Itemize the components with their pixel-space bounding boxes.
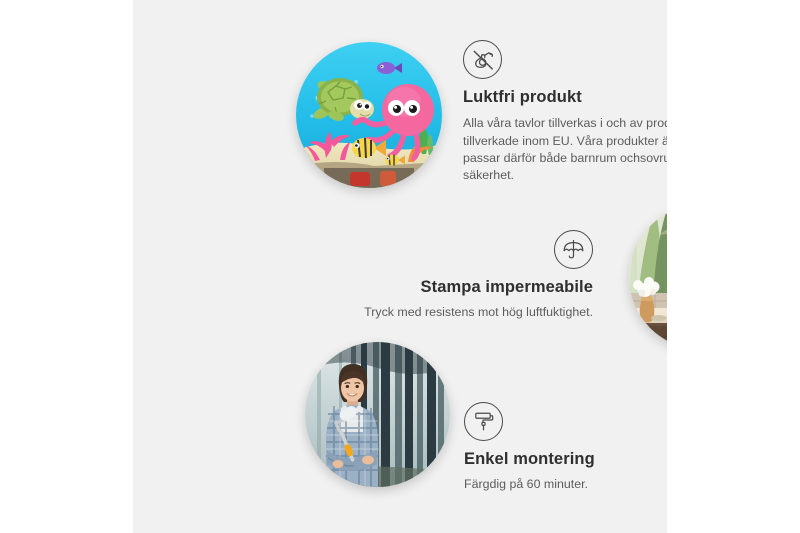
feature-3-body: Färgdig på 60 minuter. (464, 476, 667, 493)
underwater-scene-photo (296, 42, 442, 188)
woman-with-paint-roller-forest-mural-photo (305, 342, 450, 487)
feature-1-body: Alla våra tavlor tillverkas i och av pro… (463, 115, 667, 184)
content-panel: Luktfri produkt Alla våra tavlor tillver… (133, 0, 667, 533)
page-canvas: Luktfri produkt Alla våra tavlor tillver… (0, 0, 800, 533)
feature-2-body: Tryck med resistens mot hög luftfuktighe… (293, 304, 593, 321)
feature-2-icon-wrap (293, 230, 593, 269)
feature-3-icon-wrap (464, 402, 667, 441)
paint-roller-icon (464, 402, 503, 441)
feature-odorless: Luktfri produkt Alla våra tavlor tillver… (463, 40, 667, 184)
bathroom-tropical-wallpaper-photo (629, 205, 667, 349)
feature-easy-assembly: Enkel montering Färgdig på 60 minuter. (464, 402, 667, 494)
feature-1-icon-wrap (463, 40, 667, 79)
feature-2-title: Stampa impermeabile (293, 277, 593, 298)
umbrella-icon (554, 230, 593, 269)
feature-3-title: Enkel montering (464, 449, 667, 470)
feature-waterproof-print: Stampa impermeabile Tryck med resistens … (293, 230, 593, 322)
no-odor-spray-icon (463, 40, 502, 79)
feature-1-title: Luktfri produkt (463, 87, 667, 108)
